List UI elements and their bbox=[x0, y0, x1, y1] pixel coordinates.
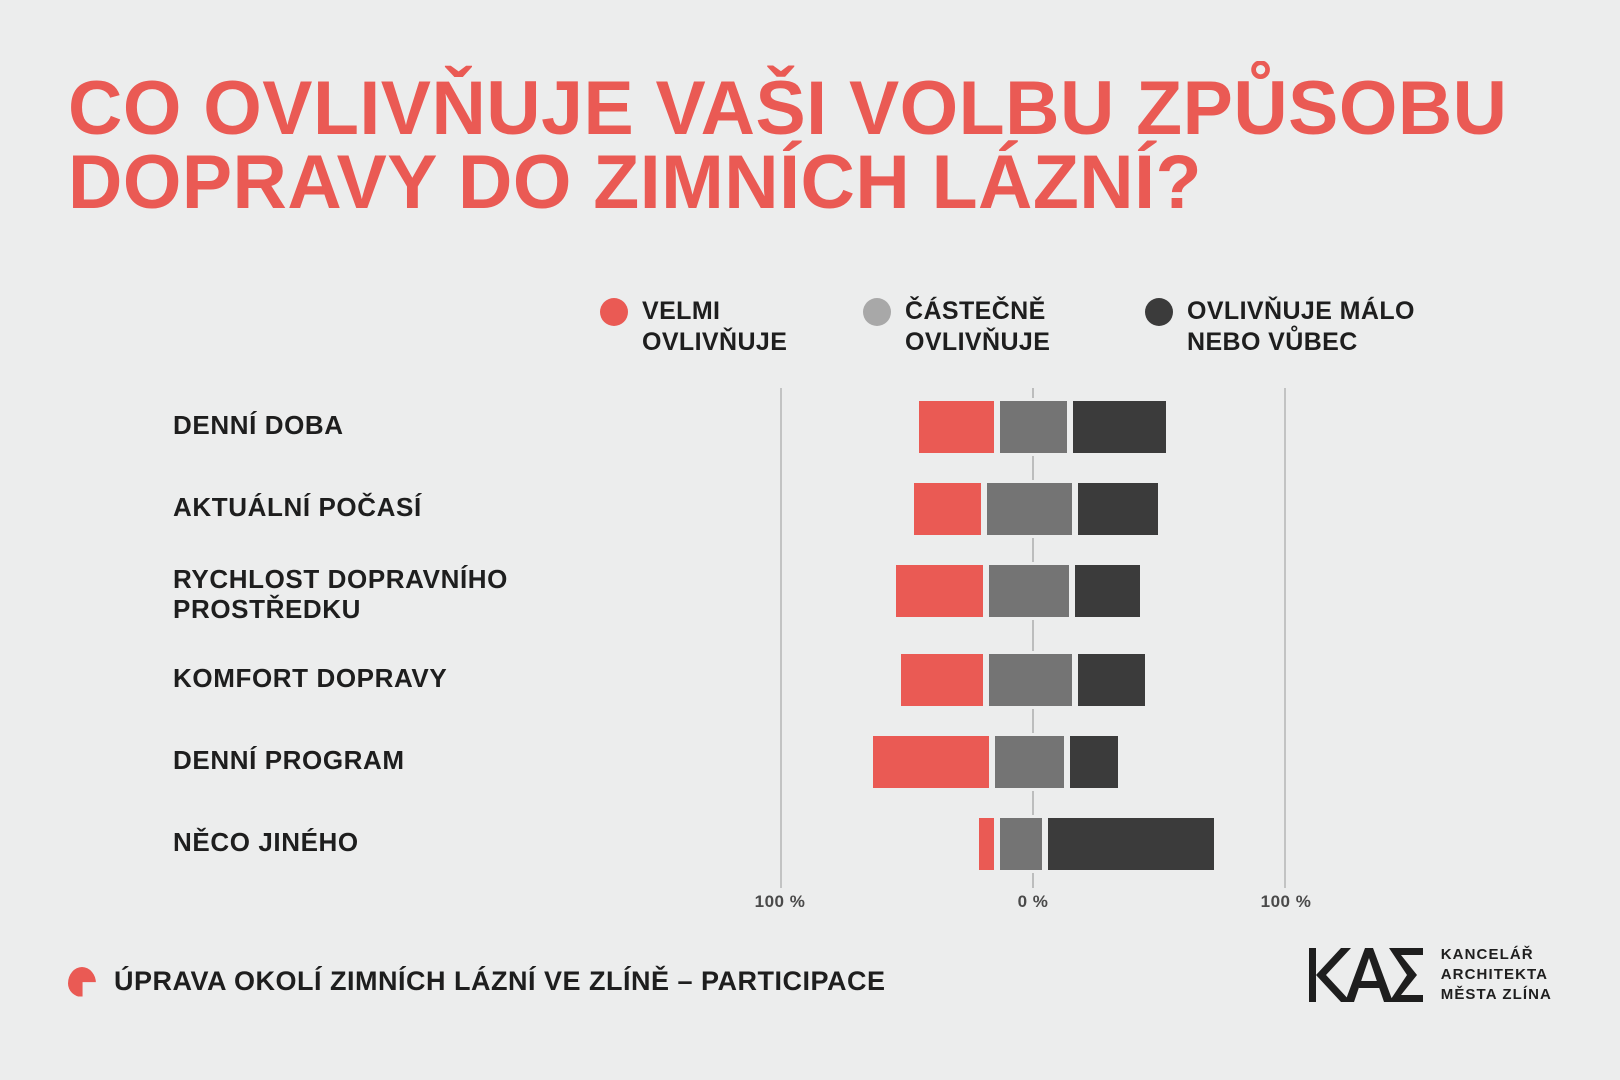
bar-segment bbox=[984, 480, 1075, 538]
bar-segment bbox=[898, 651, 987, 709]
bar-segment bbox=[1070, 398, 1169, 456]
axis-line-zero bbox=[1032, 388, 1034, 888]
legend-label-ovlivnuje-malo: OVLIVŇUJE MÁLO NEBO VŮBEC bbox=[1187, 296, 1415, 357]
kaz-logo: KANCELÁŘ ARCHITEKTA MĚSTA ZLÍNA bbox=[1307, 944, 1552, 1006]
legend-dot-gray-icon bbox=[863, 298, 891, 326]
legend-dot-red-icon bbox=[600, 298, 628, 326]
bar-segment bbox=[986, 651, 1075, 709]
chart-category-label: DENNÍ PROGRAM bbox=[173, 745, 405, 775]
legend-dot-dark-icon bbox=[1145, 298, 1173, 326]
bar-segment bbox=[997, 815, 1045, 873]
bar-segment bbox=[916, 398, 997, 456]
bar-segment bbox=[997, 398, 1070, 456]
chart-category-label: NĚCO JINÉHO bbox=[173, 827, 359, 857]
footer-note-text: ÚPRAVA OKOLÍ ZIMNÍCH LÁZNÍ VE ZLÍNĚ – PA… bbox=[114, 966, 886, 997]
chart-category-label: RYCHLOST DOPRAVNÍHO PROSTŘEDKU bbox=[173, 564, 508, 624]
bar-segment bbox=[893, 562, 987, 620]
participation-mark-icon bbox=[68, 967, 96, 997]
x-tick-label-left-100: 100 % bbox=[755, 892, 806, 912]
page-title: CO OVLIVŇUJE VAŠI VOLBU ZPŮSOBU DOPRAVY … bbox=[68, 72, 1474, 219]
x-tick-label-right-100: 100 % bbox=[1261, 892, 1312, 912]
bar-segment bbox=[1045, 815, 1217, 873]
legend-item-velmi-ovlivnuje: VELMI OVLIVŇUJE bbox=[600, 296, 863, 357]
legend-label-castecne-ovlivnuje: ČÁSTEČNĚ OVLIVŇUJE bbox=[905, 296, 1050, 357]
bar-segment bbox=[976, 815, 996, 873]
axis-line-left-100 bbox=[780, 388, 782, 888]
footer-note: ÚPRAVA OKOLÍ ZIMNÍCH LÁZNÍ VE ZLÍNĚ – PA… bbox=[68, 966, 886, 997]
bar-segment bbox=[1072, 562, 1143, 620]
legend-item-ovlivnuje-malo: OVLIVŇUJE MÁLO NEBO VŮBEC bbox=[1145, 296, 1445, 357]
kaz-logo-icon bbox=[1307, 944, 1425, 1006]
chart-category-label: KOMFORT DOPRAVY bbox=[173, 663, 447, 693]
bar-segment bbox=[992, 733, 1068, 791]
chart-category-label: AKTUÁLNÍ POČASÍ bbox=[173, 492, 422, 522]
bar-segment bbox=[870, 733, 991, 791]
axis-line-right-100 bbox=[1284, 388, 1286, 888]
x-tick-label-zero: 0 % bbox=[1018, 892, 1049, 912]
legend-item-castecne-ovlivnuje: ČÁSTEČNĚ OVLIVŇUJE bbox=[863, 296, 1145, 357]
page-title-line-1: CO OVLIVŇUJE VAŠI VOLBU ZPŮSOBU bbox=[68, 72, 1474, 146]
bar-segment bbox=[1075, 651, 1148, 709]
bar-segment bbox=[911, 480, 984, 538]
page-title-line-2: DOPRAVY DO ZIMNÍCH LÁZNÍ? bbox=[68, 146, 1474, 220]
legend-label-velmi-ovlivnuje: VELMI OVLIVŇUJE bbox=[642, 296, 787, 357]
chart-category-label: DENNÍ DOBA bbox=[173, 410, 344, 440]
chart-category-labels: DENNÍ DOBAAKTUÁLNÍ POČASÍRYCHLOST DOPRAV… bbox=[173, 388, 733, 888]
kaz-logo-text: KANCELÁŘ ARCHITEKTA MĚSTA ZLÍNA bbox=[1441, 945, 1552, 1004]
chart-plot-area: 100 % 0 % 100 % bbox=[780, 388, 1286, 888]
bar-segment bbox=[1067, 733, 1120, 791]
bar-segment bbox=[986, 562, 1072, 620]
chart-legend: VELMI OVLIVŇUJE ČÁSTEČNĚ OVLIVŇUJE OVLIV… bbox=[600, 296, 1445, 357]
bar-segment bbox=[1075, 480, 1161, 538]
